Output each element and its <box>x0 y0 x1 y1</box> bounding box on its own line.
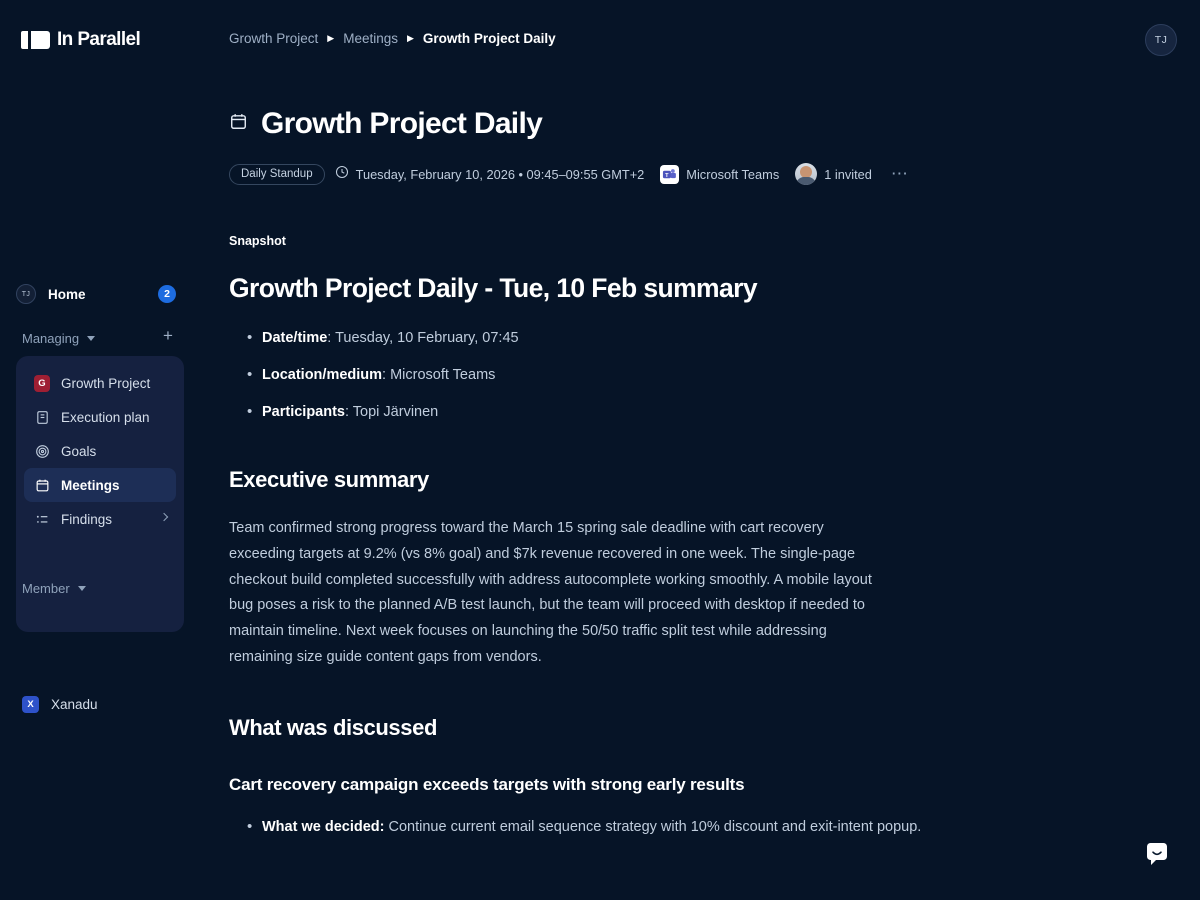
fact-value-location: : Microsoft Teams <box>382 367 495 383</box>
sidebar-item-label-findings: Findings <box>61 512 112 527</box>
sidebar-section-label-managing: Managing <box>22 331 79 346</box>
discussed-subheading: Cart recovery campaign exceeds targets w… <box>229 775 929 795</box>
more-options-icon[interactable]: ⋯ <box>891 169 909 179</box>
fact-label-datetime: Date/time <box>262 330 327 346</box>
project-badge-letter: G <box>34 375 50 392</box>
meeting-meta-row: Daily Standup Tuesday, February 10, 2026… <box>229 163 929 185</box>
meeting-invitees[interactable]: 1 invited <box>795 163 872 185</box>
sidebar-item-label-growth-project: Growth Project <box>61 376 150 391</box>
decision-label: What we decided: <box>262 819 384 835</box>
sidebar-item-growth-project[interactable]: G Growth Project <box>24 366 176 400</box>
page-title: Growth Project Daily <box>261 107 542 141</box>
top-bar: In Parallel Growth Project ▶ Meetings ▶ … <box>0 0 1200 80</box>
sidebar-item-xanadu[interactable]: X Xanadu <box>22 696 98 713</box>
invitee-avatar <box>795 163 817 185</box>
home-notification-badge: 2 <box>158 285 176 303</box>
svg-text:T: T <box>665 172 669 178</box>
user-avatar-initials: TJ <box>1155 34 1167 46</box>
chevron-down-icon[interactable] <box>78 586 86 591</box>
sidebar-item-findings[interactable]: Findings <box>24 502 176 536</box>
fact-label-participants: Participants <box>262 404 345 420</box>
breadcrumb: Growth Project ▶ Meetings ▶ Growth Proje… <box>229 31 556 46</box>
decision-value: Continue current email sequence strategy… <box>384 819 921 835</box>
add-project-button[interactable]: + <box>160 328 176 344</box>
chat-support-button[interactable] <box>1143 840 1170 867</box>
discussed-points-list: What we decided: Continue current email … <box>229 817 929 838</box>
what-was-discussed-heading: What was discussed <box>229 715 929 741</box>
member-badge-letter: X <box>22 696 39 713</box>
meeting-datetime: Tuesday, February 10, 2026 • 09:45–09:55… <box>335 165 645 184</box>
sidebar: TJ Home 2 Managing + G Growth Project Ex… <box>0 80 200 900</box>
sidebar-item-label-home: Home <box>48 287 86 302</box>
meeting-platform[interactable]: T Microsoft Teams <box>660 165 779 184</box>
breadcrumb-separator-icon: ▶ <box>327 34 334 43</box>
app-logo[interactable]: In Parallel <box>21 29 140 51</box>
calendar-icon <box>34 477 50 493</box>
list-item: Date/time: Tuesday, 10 February, 07:45 <box>229 328 929 349</box>
sidebar-item-label-goals: Goals <box>61 444 96 459</box>
sidebar-section-member[interactable]: Member <box>22 578 184 598</box>
chevron-down-icon[interactable] <box>87 336 95 341</box>
home-avatar-initials: TJ <box>22 291 30 298</box>
list-item: What we decided: Continue current email … <box>229 817 929 838</box>
breadcrumb-item-meetings[interactable]: Meetings <box>343 31 398 46</box>
main-content: Growth Project Daily Daily Standup Tuesd… <box>229 80 929 854</box>
meeting-platform-text: Microsoft Teams <box>686 167 779 182</box>
sidebar-item-label-xanadu: Xanadu <box>51 697 98 712</box>
chat-bubble-icon <box>1144 841 1170 867</box>
fact-value-participants: : Topi Järvinen <box>345 404 438 420</box>
user-avatar[interactable]: TJ <box>1145 24 1177 56</box>
executive-summary-body: Team confirmed strong progress toward th… <box>229 516 879 671</box>
list-icon <box>34 511 50 527</box>
breadcrumb-item-growth-project[interactable]: Growth Project <box>229 31 318 46</box>
sidebar-item-execution-plan[interactable]: Execution plan <box>24 400 176 434</box>
executive-summary-heading: Executive summary <box>229 467 929 493</box>
snapshot-eyebrow: Snapshot <box>229 234 929 248</box>
meeting-invited-count: 1 invited <box>824 167 872 182</box>
summary-title: Growth Project Daily - Tue, 10 Feb summa… <box>229 273 929 304</box>
list-item: Location/medium: Microsoft Teams <box>229 365 929 386</box>
logo-text: In Parallel <box>57 29 140 51</box>
calendar-icon <box>229 112 248 136</box>
breadcrumb-separator-icon: ▶ <box>407 34 414 43</box>
sidebar-item-home[interactable]: TJ Home 2 <box>16 278 184 310</box>
list-item: Participants: Topi Järvinen <box>229 402 929 423</box>
meeting-type-badge[interactable]: Daily Standup <box>229 164 325 185</box>
chevron-right-icon[interactable] <box>160 513 168 521</box>
fact-value-datetime: : Tuesday, 10 February, 07:45 <box>327 330 518 346</box>
sidebar-item-goals[interactable]: Goals <box>24 434 176 468</box>
logo-mark-icon <box>21 31 50 49</box>
meeting-datetime-text: Tuesday, February 10, 2026 • 09:45–09:55… <box>356 167 645 182</box>
clock-icon <box>335 165 349 184</box>
target-icon <box>34 443 50 459</box>
home-avatar-icon: TJ <box>16 284 36 304</box>
sidebar-item-label-meetings: Meetings <box>61 478 120 493</box>
facts-list: Date/time: Tuesday, 10 February, 07:45 L… <box>229 328 929 423</box>
page-title-row: Growth Project Daily <box>229 107 929 141</box>
document-icon <box>34 409 50 425</box>
project-badge-icon: G <box>34 375 50 391</box>
sidebar-item-label-execution-plan: Execution plan <box>61 410 150 425</box>
breadcrumb-item-current: Growth Project Daily <box>423 31 556 46</box>
fact-label-location: Location/medium <box>262 367 382 383</box>
sidebar-item-meetings[interactable]: Meetings <box>24 468 176 502</box>
microsoft-teams-icon: T <box>660 165 679 184</box>
sidebar-section-label-member: Member <box>22 581 70 596</box>
